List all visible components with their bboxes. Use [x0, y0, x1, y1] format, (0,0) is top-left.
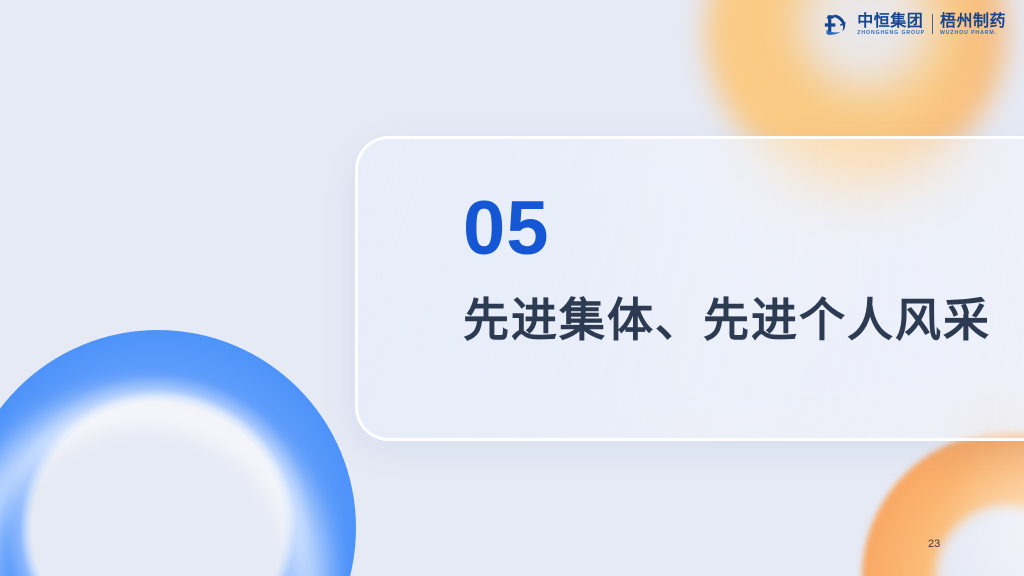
logo-company-en: ZHONGHENG GROUP [857, 30, 925, 38]
section-title: 先进集体、先进个人风采 [463, 295, 1024, 347]
logo-division-block: 梧州制药 WUZHOU PHARM. [940, 13, 1006, 38]
brand-logo: 中恒集团 ZHONGHENG GROUP 梧州制药 WUZHOU PHARM. [824, 12, 1006, 38]
zhongheng-logo-icon [824, 12, 850, 38]
logo-divider [932, 14, 933, 35]
section-card: 05 先进集体、先进个人风采 [355, 136, 1024, 441]
logo-division-cn: 梧州制药 [940, 13, 1006, 30]
blue-ring-shape [0, 330, 356, 576]
blue-ring-highlight [0, 330, 356, 576]
orange-ring-shape [862, 432, 1024, 576]
logo-company-cn: 中恒集团 [857, 13, 925, 30]
slide-canvas: 05 先进集体、先进个人风采 中恒集团 ZHONGHENG GROUP 梧州制药… [0, 0, 1024, 576]
logo-text-block: 中恒集团 ZHONGHENG GROUP 梧州制药 WUZHOU PHARM. [857, 13, 1006, 38]
page-number: 23 [928, 538, 940, 550]
logo-division-en: WUZHOU PHARM. [940, 30, 1006, 38]
blue-ring-shading [0, 330, 356, 576]
orange-ring-highlight [862, 432, 1024, 576]
logo-company-block: 中恒集团 ZHONGHENG GROUP [857, 13, 925, 38]
card-body: 05 先进集体、先进个人风采 [463, 191, 1024, 347]
section-number: 05 [463, 191, 1024, 267]
